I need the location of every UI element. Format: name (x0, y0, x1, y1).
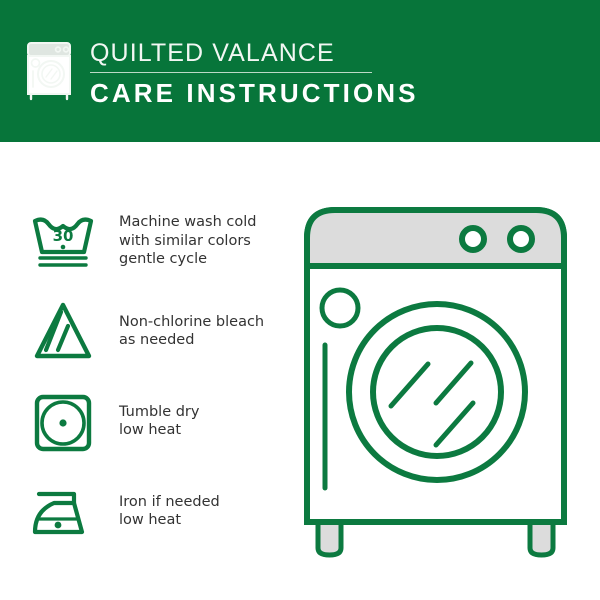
tumble-dry-low-heat-icon (30, 388, 96, 454)
wash-temperature-label: 30 (53, 227, 74, 245)
care-instructions-page: QUILTED VALANCE CARE INSTRUCTIONS 30 Mac… (0, 0, 600, 600)
care-text-wash: Machine wash cold with similar colors ge… (119, 213, 256, 269)
care-row-wash: 30 Machine wash cold with similar colors… (30, 196, 285, 286)
care-text-iron: Iron if needed low heat (119, 493, 220, 530)
knob-left[interactable] (462, 228, 484, 250)
detergent-dial[interactable] (322, 290, 358, 326)
header-title-block: QUILTED VALANCE CARE INSTRUCTIONS (90, 38, 419, 108)
washing-machine-icon (24, 40, 76, 102)
header-content: QUILTED VALANCE CARE INSTRUCTIONS (24, 38, 419, 108)
care-row-iron: Iron if needed low heat (30, 466, 285, 556)
knob-right[interactable] (510, 228, 532, 250)
care-row-bleach: Non-chlorine bleach as needed (30, 286, 285, 376)
non-chlorine-bleach-triangle-icon (30, 298, 96, 364)
care-text-tumble-dry: Tumble dry low heat (119, 403, 199, 440)
page-title: QUILTED VALANCE (90, 38, 419, 68)
header-banner: QUILTED VALANCE CARE INSTRUCTIONS (0, 0, 600, 142)
page-subtitle: CARE INSTRUCTIONS (90, 78, 419, 108)
door-inner-ring (373, 328, 501, 456)
wash-tub-30-gentle-icon: 30 (30, 208, 96, 274)
title-divider (90, 72, 372, 73)
care-row-tumble-dry: Tumble dry low heat (30, 376, 285, 466)
care-instruction-list: 30 Machine wash cold with similar colors… (30, 196, 285, 556)
care-text-bleach: Non-chlorine bleach as needed (119, 313, 264, 350)
front-load-washing-machine-illustration (293, 198, 578, 560)
iron-low-heat-icon (30, 478, 96, 544)
